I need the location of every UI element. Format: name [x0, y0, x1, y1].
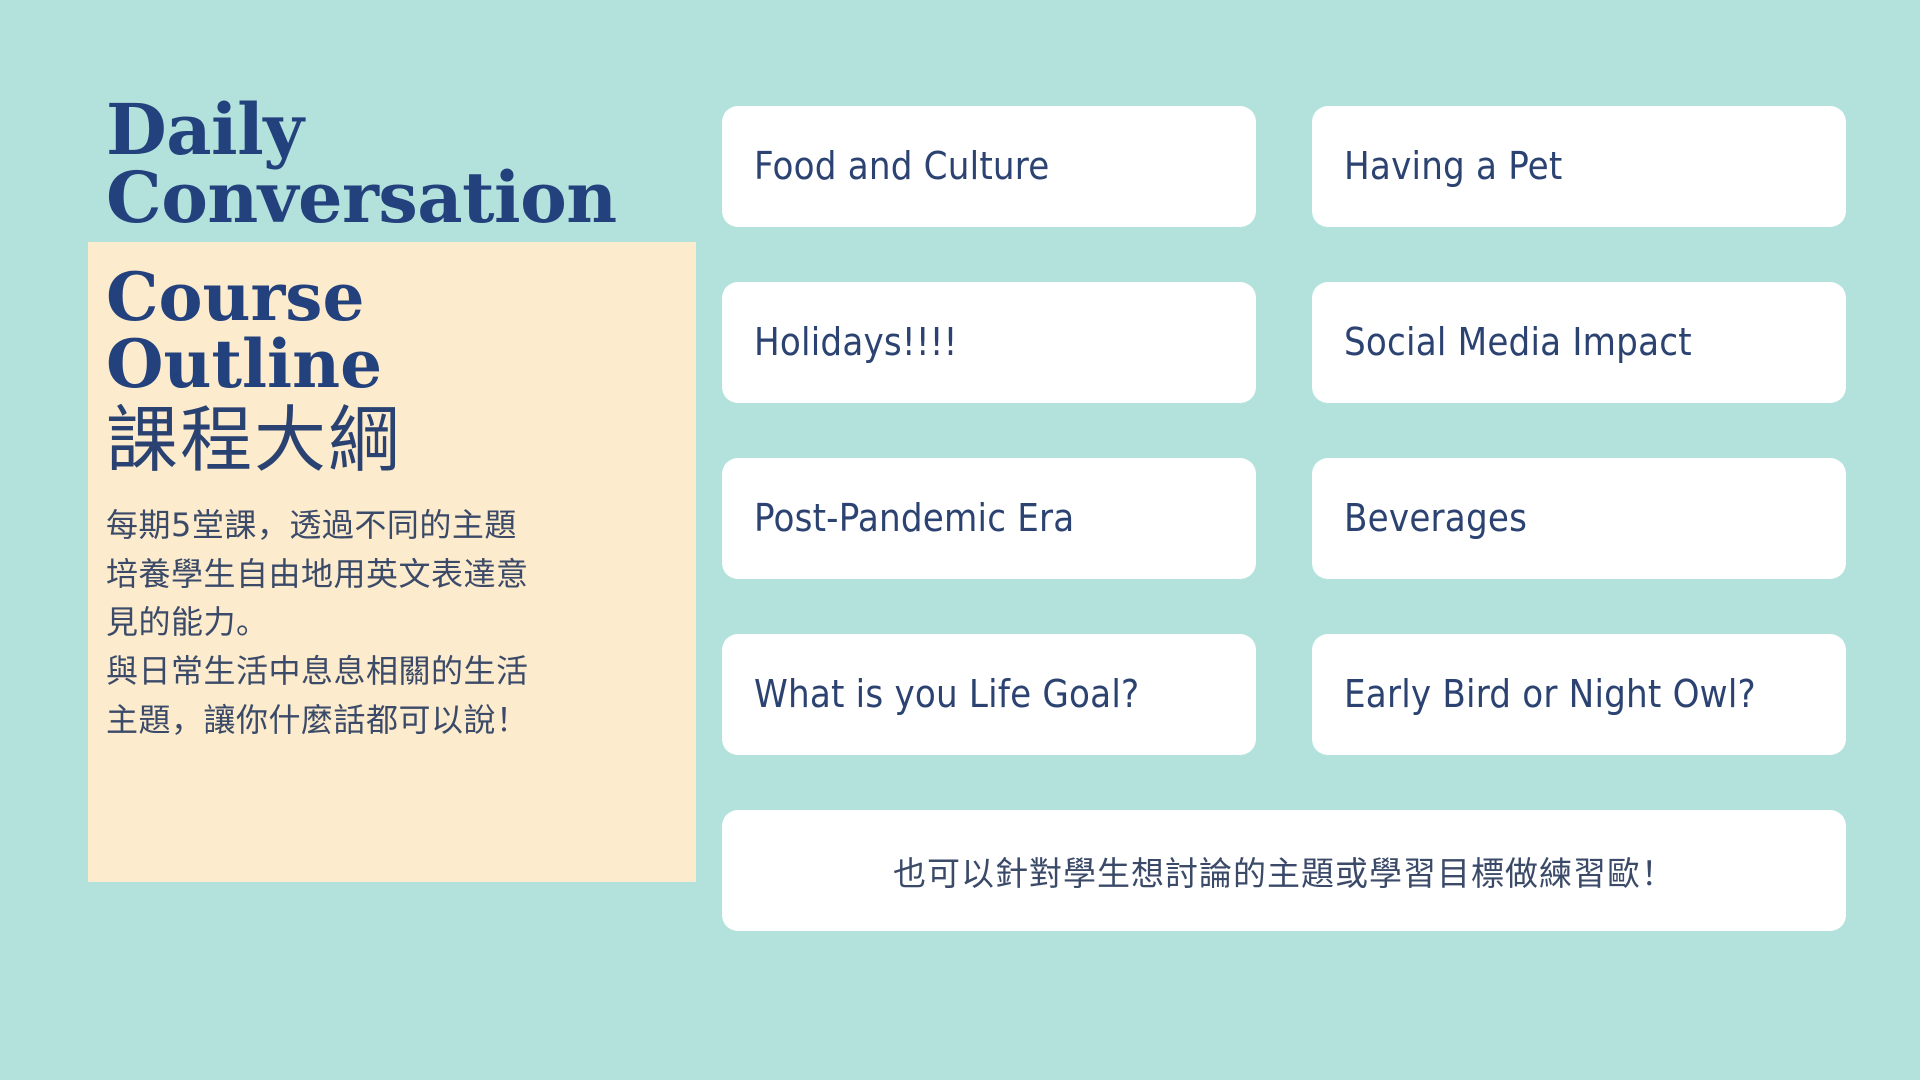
- topic-card[interactable]: Social Media Impact: [1312, 282, 1846, 403]
- topic-card-label: Holidays!!!!: [754, 322, 958, 364]
- topic-card[interactable]: Having a Pet: [1312, 106, 1846, 227]
- course-description: 每期5堂課，透過不同的主題 培養學生自由地用英文表達意 見的能力。 與日常生活中…: [106, 501, 674, 744]
- topic-card[interactable]: What is you Life Goal?: [722, 634, 1256, 755]
- footer-note-label: 也可以針對學生想討論的主題或學習目標做練習歐！: [893, 847, 1675, 895]
- topic-card[interactable]: Early Bird or Night Owl?: [1312, 634, 1846, 755]
- footer-note-card[interactable]: 也可以針對學生想討論的主題或學習目標做練習歐！: [722, 810, 1846, 931]
- main-title: Daily Conversation: [106, 96, 708, 232]
- topic-card-label: What is you Life Goal?: [754, 674, 1139, 716]
- topic-card-label: Early Bird or Night Owl?: [1344, 674, 1756, 716]
- topic-card-label: Having a Pet: [1344, 146, 1563, 188]
- topic-card[interactable]: Post-Pandemic Era: [722, 458, 1256, 579]
- course-outline-title-chinese: 課程大綱: [106, 400, 674, 481]
- slide-root: Daily Conversation Course Outline 課程大綱 每…: [0, 0, 1920, 1080]
- topic-card[interactable]: Holidays!!!!: [722, 282, 1256, 403]
- left-column: Daily Conversation Course Outline 課程大綱 每…: [88, 96, 708, 882]
- topic-card[interactable]: Beverages: [1312, 458, 1846, 579]
- topic-card-label: Post-Pandemic Era: [754, 498, 1074, 540]
- topic-card[interactable]: Food and Culture: [722, 106, 1256, 227]
- topic-card-label: Beverages: [1344, 498, 1527, 540]
- title-block: Daily Conversation: [88, 96, 708, 232]
- topics-area: Food and Culture Having a Pet Holidays!!…: [722, 106, 1842, 931]
- topic-card-grid: Food and Culture Having a Pet Holidays!!…: [722, 106, 1842, 755]
- course-outline-title: Course Outline: [106, 264, 674, 399]
- topic-card-label: Food and Culture: [754, 146, 1049, 188]
- course-outline-panel: Course Outline 課程大綱 每期5堂課，透過不同的主題 培養學生自由…: [88, 242, 696, 882]
- topic-card-label: Social Media Impact: [1344, 322, 1692, 364]
